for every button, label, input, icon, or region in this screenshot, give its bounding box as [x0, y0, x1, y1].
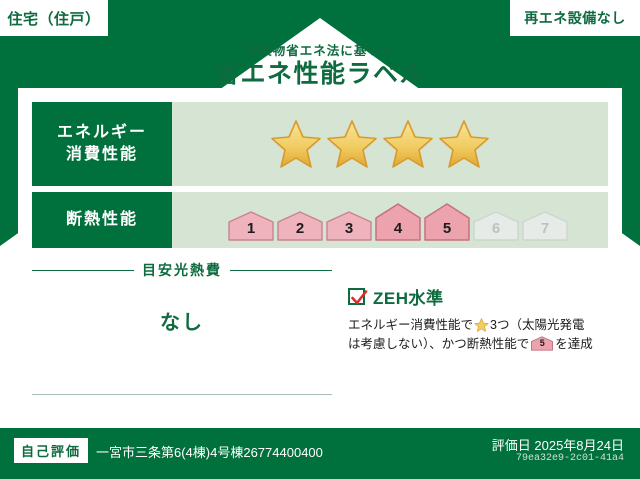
label-card: エネルギー 消費性能	[18, 88, 622, 428]
renewable-equipment-tag: 再エネ設備なし	[510, 0, 640, 36]
zeh-standard-description: エネルギー消費性能で3つ（太陽光発電は考慮しない）、かつ断熱性能で5を達成	[348, 316, 610, 355]
insulation-performance-label: 断熱性能	[66, 209, 138, 231]
utility-cost-heading-label: 目安光熱費	[142, 260, 222, 280]
utility-cost-heading: 目安光熱費	[32, 260, 332, 280]
energy-performance-label-line1: エネルギー	[57, 122, 147, 144]
star-rating	[172, 119, 490, 169]
insulation-level-number: 5	[443, 220, 451, 241]
insulation-level-badge-inline: 5	[531, 336, 553, 351]
label-footer: 自己評価 一宮市三条第6(4棟)4号棟26774400400 評価日 2025年…	[0, 428, 640, 479]
insulation-level-number: 5	[531, 337, 553, 351]
page-title: 省エネ性能ラベル	[0, 61, 640, 89]
label-subtitle: 建築物省エネ法に基づく	[0, 40, 640, 59]
self-evaluation-badge: 自己評価	[14, 438, 88, 463]
building-name-text: 一宮市三条第6(4棟)4号棟26774400400	[96, 442, 323, 461]
building-type-tag-label: 住宅（住戸）	[7, 8, 100, 29]
zeh-checkbox[interactable]	[348, 288, 365, 305]
evaluation-date-text: 評価日 2025年8月24日	[492, 435, 624, 454]
zeh-title-row: ZEH水準	[348, 284, 610, 309]
utility-cost-divider	[32, 394, 332, 395]
energy-performance-row: エネルギー 消費性能	[32, 102, 608, 186]
label-title-block: 建築物省エネ法に基づく 省エネ性能ラベル	[0, 40, 640, 89]
insulation-level-number: 4	[394, 220, 402, 241]
insulation-level-badge: 3	[326, 211, 372, 241]
energy-performance-label: 住宅（住戸） 再エネ設備なし 建築物省エネ法に基づく 省エネ性能ラベル エネルギ…	[0, 0, 640, 479]
insulation-level-badge: 2	[277, 211, 323, 241]
energy-performance-label-line2: 消費性能	[66, 144, 138, 166]
insulation-performance-label-cell: 断熱性能	[32, 192, 172, 248]
energy-performance-value-cell	[172, 102, 608, 186]
zeh-standard-title: ZEH水準	[373, 284, 444, 309]
insulation-performance-row: 断熱性能 1 2	[32, 192, 608, 248]
insulation-level-badge: 1	[228, 211, 274, 241]
insulation-level-badge: 4	[375, 203, 421, 241]
renewable-equipment-tag-label: 再エネ設備なし	[524, 8, 626, 28]
zeh-desc-part3: を達成	[555, 337, 593, 351]
building-type-tag: 住宅（住戸）	[0, 0, 108, 36]
star-icon	[326, 119, 378, 169]
insulation-level-number: 2	[296, 220, 304, 241]
insulation-level-badge: 5	[424, 203, 470, 241]
insulation-level-badge: 7	[522, 211, 568, 241]
insulation-level-scale: 1 2 3	[172, 192, 568, 248]
zeh-standard-block: ZEH水準 エネルギー消費性能で3つ（太陽光発電は考慮しない）、かつ断熱性能で5…	[348, 284, 610, 355]
heading-rule-left	[32, 270, 134, 271]
zeh-desc-part1: エネルギー消費性能で	[348, 318, 473, 332]
star-icon	[438, 119, 490, 169]
insulation-level-number: 1	[247, 220, 255, 241]
star-icon	[270, 119, 322, 169]
heading-rule-right	[230, 270, 332, 271]
check-icon	[349, 288, 369, 308]
energy-performance-label-cell: エネルギー 消費性能	[32, 102, 172, 186]
zeh-desc-part2: は考慮しない）、かつ断熱性能で	[348, 337, 529, 351]
utility-cost-block: 目安光熱費 なし	[32, 260, 332, 335]
star-icon	[382, 119, 434, 169]
evaluation-id-text: 79ea32e9-2c01-41a4	[516, 453, 624, 464]
star-icon	[474, 318, 489, 332]
zeh-desc-stars: 3つ（太陽光発電	[490, 318, 584, 332]
insulation-level-number: 7	[541, 220, 549, 241]
insulation-level-number: 6	[492, 220, 500, 241]
insulation-level-number: 3	[345, 220, 353, 241]
insulation-level-badge: 6	[473, 211, 519, 241]
insulation-performance-value-cell: 1 2 3	[172, 192, 608, 248]
utility-cost-value: なし	[32, 306, 332, 335]
